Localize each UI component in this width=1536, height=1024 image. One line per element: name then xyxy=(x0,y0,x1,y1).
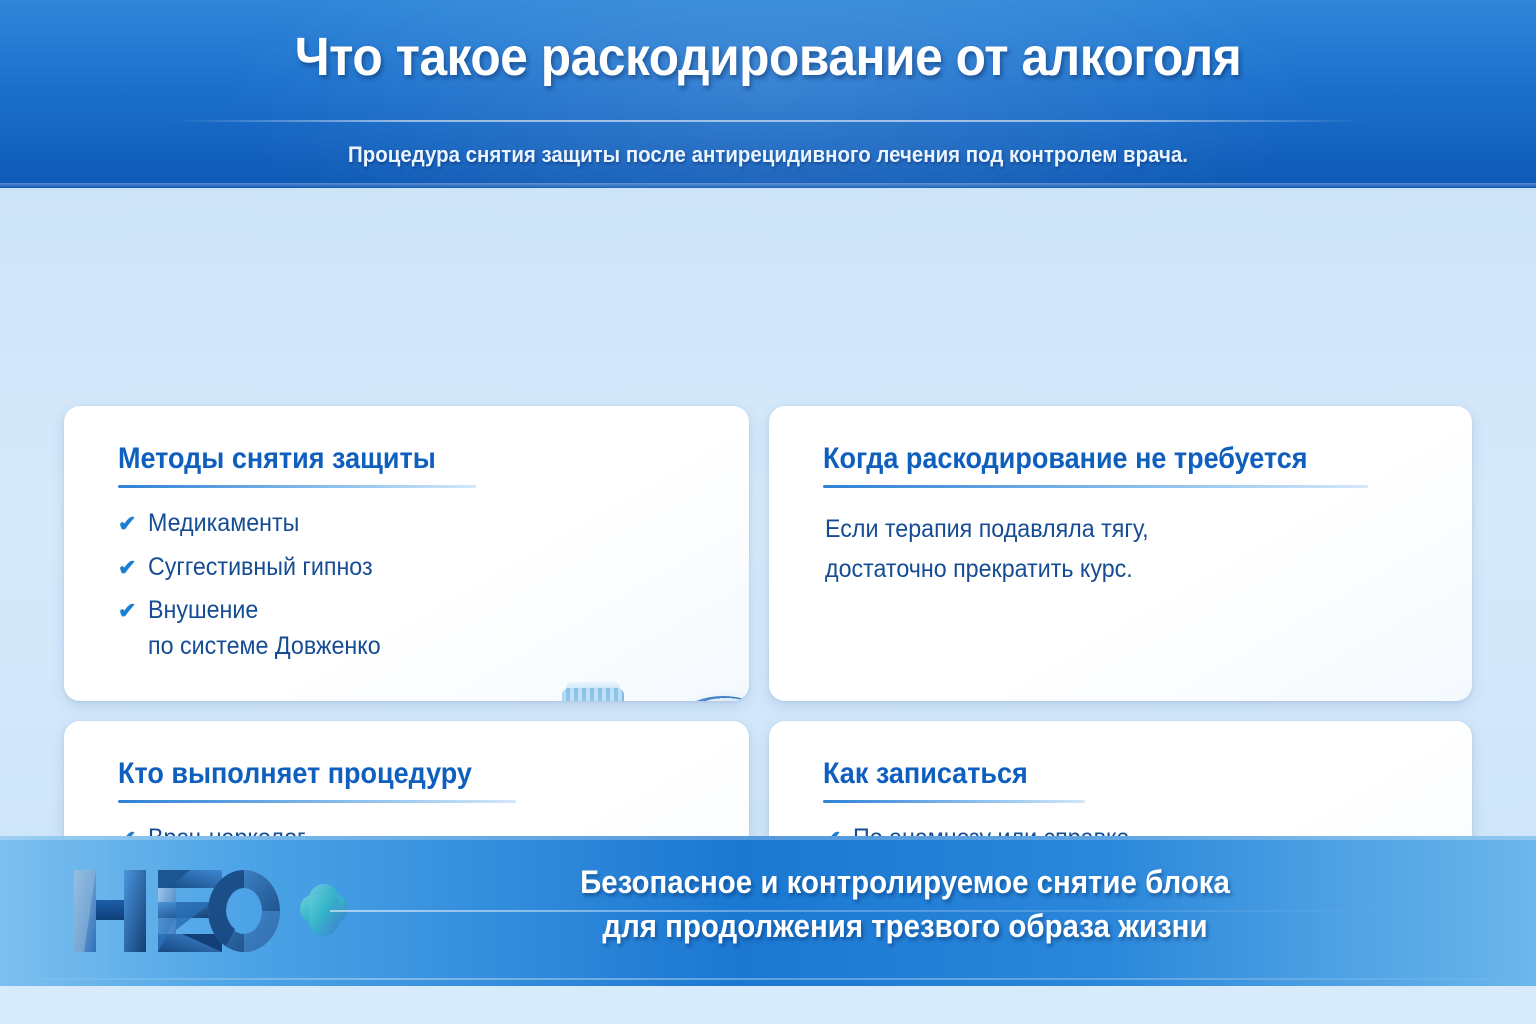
card-title-underline xyxy=(118,485,476,488)
footer-tagline-line2: для продолжения трезвого образа жизни xyxy=(394,908,1415,945)
cards-stage: Методы снятия защиты ✔ Медикаменты ✔ Суг… xyxy=(0,188,1536,836)
card-title: Когда раскодирование не требуется xyxy=(823,442,1308,476)
list-item: ✔ Суггестивный гипноз xyxy=(118,550,398,586)
card-title: Как записаться xyxy=(823,757,1028,791)
check-icon: ✔ xyxy=(118,506,148,535)
footer-tagline-line1: Безопасное и контролируемое снятие блока xyxy=(394,864,1415,901)
neo-plus-logo[interactable] xyxy=(62,858,352,964)
page-footer: Безопасное и контролируемое снятие блока… xyxy=(0,836,1536,1024)
list-item-label: Медикаменты xyxy=(148,506,299,542)
card-title-underline xyxy=(823,800,1085,803)
list-item-label: Суггестивный гипноз xyxy=(148,550,373,586)
list-item: ✔ Внушение по системе Довженко xyxy=(118,593,398,664)
check-icon: ✔ xyxy=(118,550,148,579)
bullet-list: ✔ Медикаменты ✔ Суггестивный гипноз ✔ Вн… xyxy=(118,506,398,672)
card-methods[interactable]: Методы снятия защиты ✔ Медикаменты ✔ Суг… xyxy=(64,406,749,701)
hypnosis-spiral-icon xyxy=(649,696,749,701)
card-title: Методы снятия защиты xyxy=(118,442,436,476)
page-title: Что такое раскодирование от алкоголя xyxy=(61,26,1474,88)
page-subtitle: Процедура снятия защиты после антирециди… xyxy=(54,142,1482,168)
list-item-label: Внушение по системе Довженко xyxy=(148,593,381,664)
card-title-underline xyxy=(823,485,1368,488)
page-header: Что такое раскодирование от алкоголя Про… xyxy=(0,0,1536,188)
footer-band: Безопасное и контролируемое снятие блока… xyxy=(0,836,1536,986)
card-paragraph: Если терапия подавляла тягу, достаточно … xyxy=(825,510,1149,589)
pills-and-hypnosis-spiral-icon xyxy=(504,686,749,701)
list-item: ✔ Медикаменты xyxy=(118,506,398,542)
card-title: Кто выполняет процедуру xyxy=(118,757,472,791)
card-when-not-needed[interactable]: Когда раскодирование не требуется Если т… xyxy=(769,406,1472,701)
bottle-cap xyxy=(562,688,624,701)
header-divider xyxy=(170,120,1366,122)
check-icon: ✔ xyxy=(118,593,148,622)
card-title-underline xyxy=(118,800,516,803)
